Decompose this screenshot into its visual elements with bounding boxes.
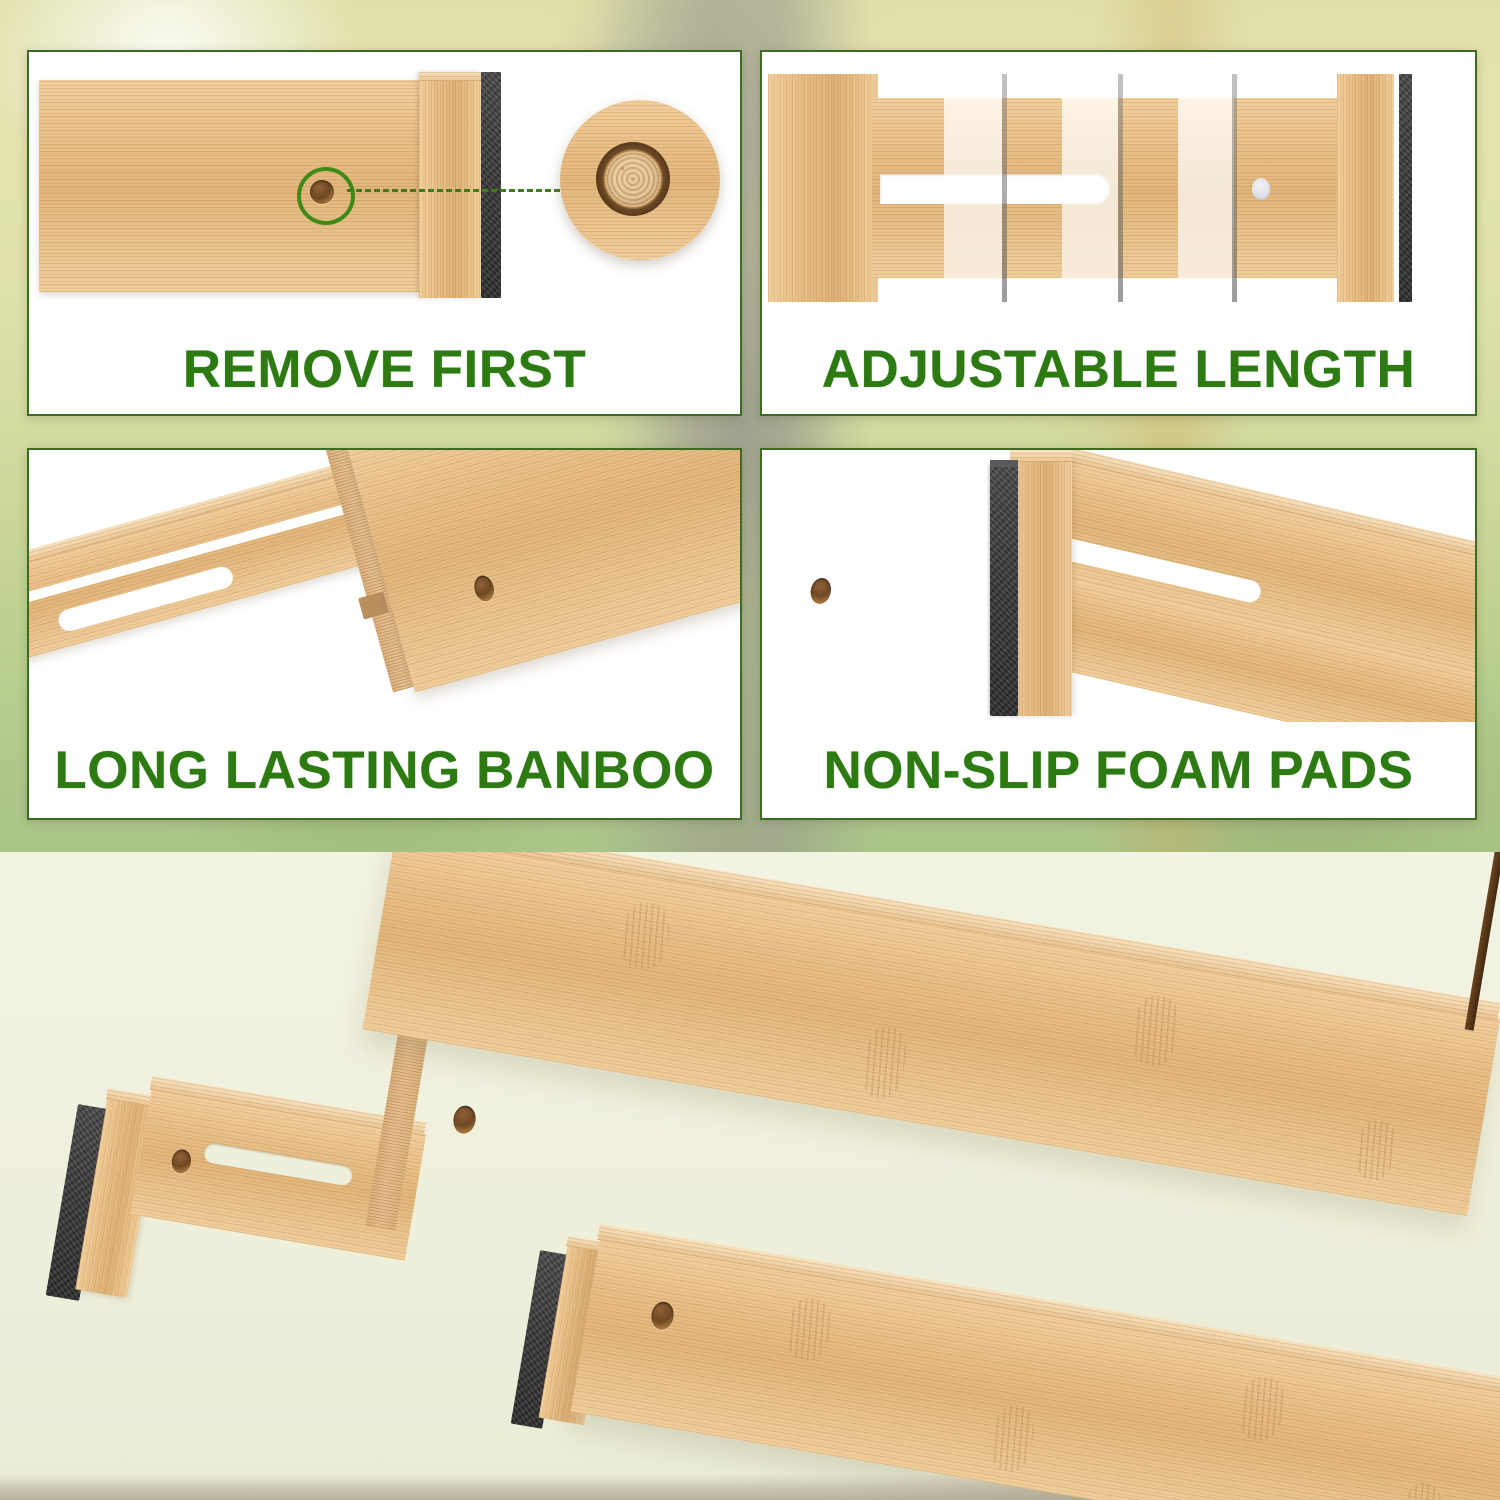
feature-panel-non-slip-foam-pads[interactable]: NON-SLIP FOAM PADS — [760, 448, 1477, 820]
panel-artwork-non-slip-foam-pads — [762, 450, 1475, 722]
panel-artwork-adjustable-length — [762, 52, 1475, 320]
foam-pad-icon — [990, 464, 1018, 716]
bamboo-node-mark-icon — [1128, 992, 1183, 1068]
bamboo-board-icon — [347, 450, 740, 692]
adjust-pin-icon — [1252, 178, 1270, 200]
screw-hole-icon — [808, 576, 833, 606]
highlight-ring-icon — [297, 167, 355, 225]
panel-artwork-remove-first — [29, 52, 740, 320]
bamboo-node-mark-icon — [1236, 1374, 1288, 1444]
bamboo-endcap-icon — [1337, 74, 1394, 302]
panel-label-text: ADJUSTABLE LENGTH — [822, 339, 1415, 400]
panel-label-remove-first: REMOVE FIRST — [29, 324, 740, 414]
bamboo-node-mark-icon — [617, 900, 673, 973]
ghost-position-icon — [944, 74, 1002, 302]
bamboo-node-mark-icon — [987, 1403, 1037, 1475]
panel-artwork-long-lasting-banboo — [29, 450, 740, 722]
hero-product-shot — [0, 852, 1500, 1500]
ghost-position-line-icon — [1232, 74, 1237, 302]
feature-panel-adjustable-length[interactable]: ADJUSTABLE LENGTH — [760, 50, 1477, 416]
ghost-position-line-icon — [1118, 74, 1123, 302]
screw-hole-icon — [451, 1104, 477, 1135]
bamboo-endcap-icon — [768, 74, 878, 302]
bamboo-node-mark-icon — [1352, 1117, 1399, 1182]
panel-label-adjustable-length: ADJUSTABLE LENGTH — [762, 324, 1475, 414]
ghost-position-icon — [1062, 74, 1118, 302]
ghost-position-line-icon — [1002, 74, 1007, 302]
magnified-hole-plug-icon — [607, 153, 659, 205]
bamboo-board-icon — [39, 80, 419, 292]
dashed-callout-line-icon — [347, 189, 560, 192]
ghost-position-icon — [1178, 74, 1234, 302]
foam-pad-top-icon — [990, 460, 1018, 467]
bamboo-joint-scene — [29, 450, 740, 722]
panel-label-text: LONG LASTING BANBOO — [54, 740, 714, 801]
foam-pad-icon — [1399, 74, 1412, 302]
bamboo-node-mark-icon — [859, 1024, 910, 1102]
bamboo-endcap-icon — [419, 72, 481, 298]
feature-panel-remove-first[interactable]: REMOVE FIRST — [27, 50, 742, 416]
panel-label-non-slip-foam-pads: NON-SLIP FOAM PADS — [762, 722, 1475, 818]
magnified-hole-icon — [560, 100, 720, 260]
bamboo-node-mark-icon — [783, 1295, 835, 1363]
panel-label-long-lasting-banboo: LONG LASTING BANBOO — [29, 722, 740, 818]
infographic-stage: REMOVE FIRST ADJUSTABLE LENGTH — [0, 0, 1500, 1500]
foam-pad-icon — [481, 72, 501, 298]
panel-label-text: REMOVE FIRST — [183, 339, 587, 400]
bamboo-node-mark-icon — [1399, 1480, 1444, 1500]
bamboo-post-icon — [1010, 458, 1072, 716]
foam-pad-scene — [762, 450, 1475, 722]
panel-label-text: NON-SLIP FOAM PADS — [823, 740, 1413, 801]
bamboo-post-top-icon — [1010, 450, 1072, 462]
bamboo-endcap-top-icon — [419, 72, 481, 81]
feature-panel-long-lasting-banboo[interactable]: LONG LASTING BANBOO — [27, 448, 742, 820]
